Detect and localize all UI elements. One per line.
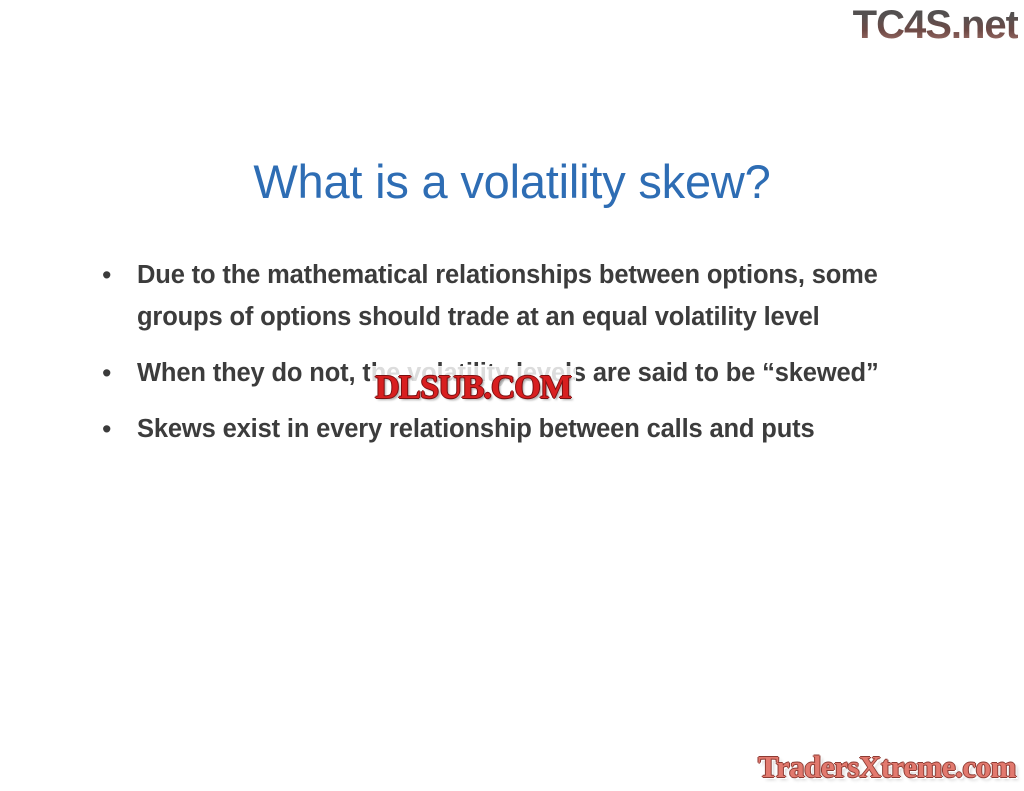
bullet-list: • Due to the mathematical relationships …: [100, 254, 960, 450]
bullet-text: Due to the mathematical relationships be…: [137, 254, 927, 338]
list-item: • Due to the mathematical relationships …: [100, 254, 960, 338]
dlsub-watermark: DLSUB.COM: [371, 367, 575, 410]
tc4s-net-logo: TC4S.net: [853, 2, 1018, 48]
bullet-point-icon: •: [100, 408, 137, 450]
page-title: What is a volatility skew?: [0, 153, 1024, 211]
tradersxtreme-logo: TradersXtreme.com: [758, 749, 1016, 785]
slide-canvas: TC4S.net What is a volatility skew? • Du…: [0, 0, 1024, 791]
bullet-point-icon: •: [100, 254, 137, 296]
list-item: • Skews exist in every relationship betw…: [100, 408, 960, 450]
bullet-point-icon: •: [100, 352, 137, 394]
bullet-text: Skews exist in every relationship betwee…: [137, 408, 927, 450]
